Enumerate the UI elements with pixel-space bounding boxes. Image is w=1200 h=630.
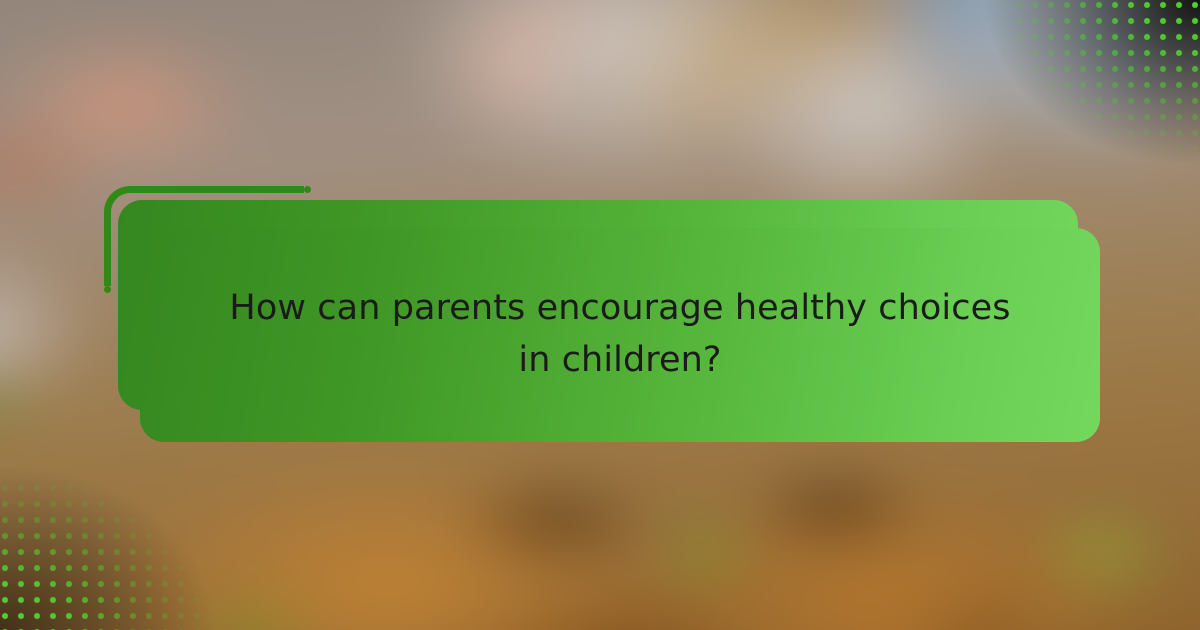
halftone-dots-icon-bottom-left [0,461,224,630]
halftone-dots-icon-top-right [976,0,1200,169]
question-card[interactable]: How can parents encourage healthy choice… [140,228,1100,442]
social-card-canvas: How can parents encourage healthy choice… [0,0,1200,630]
page-title: How can parents encourage healthy choice… [140,283,1100,387]
